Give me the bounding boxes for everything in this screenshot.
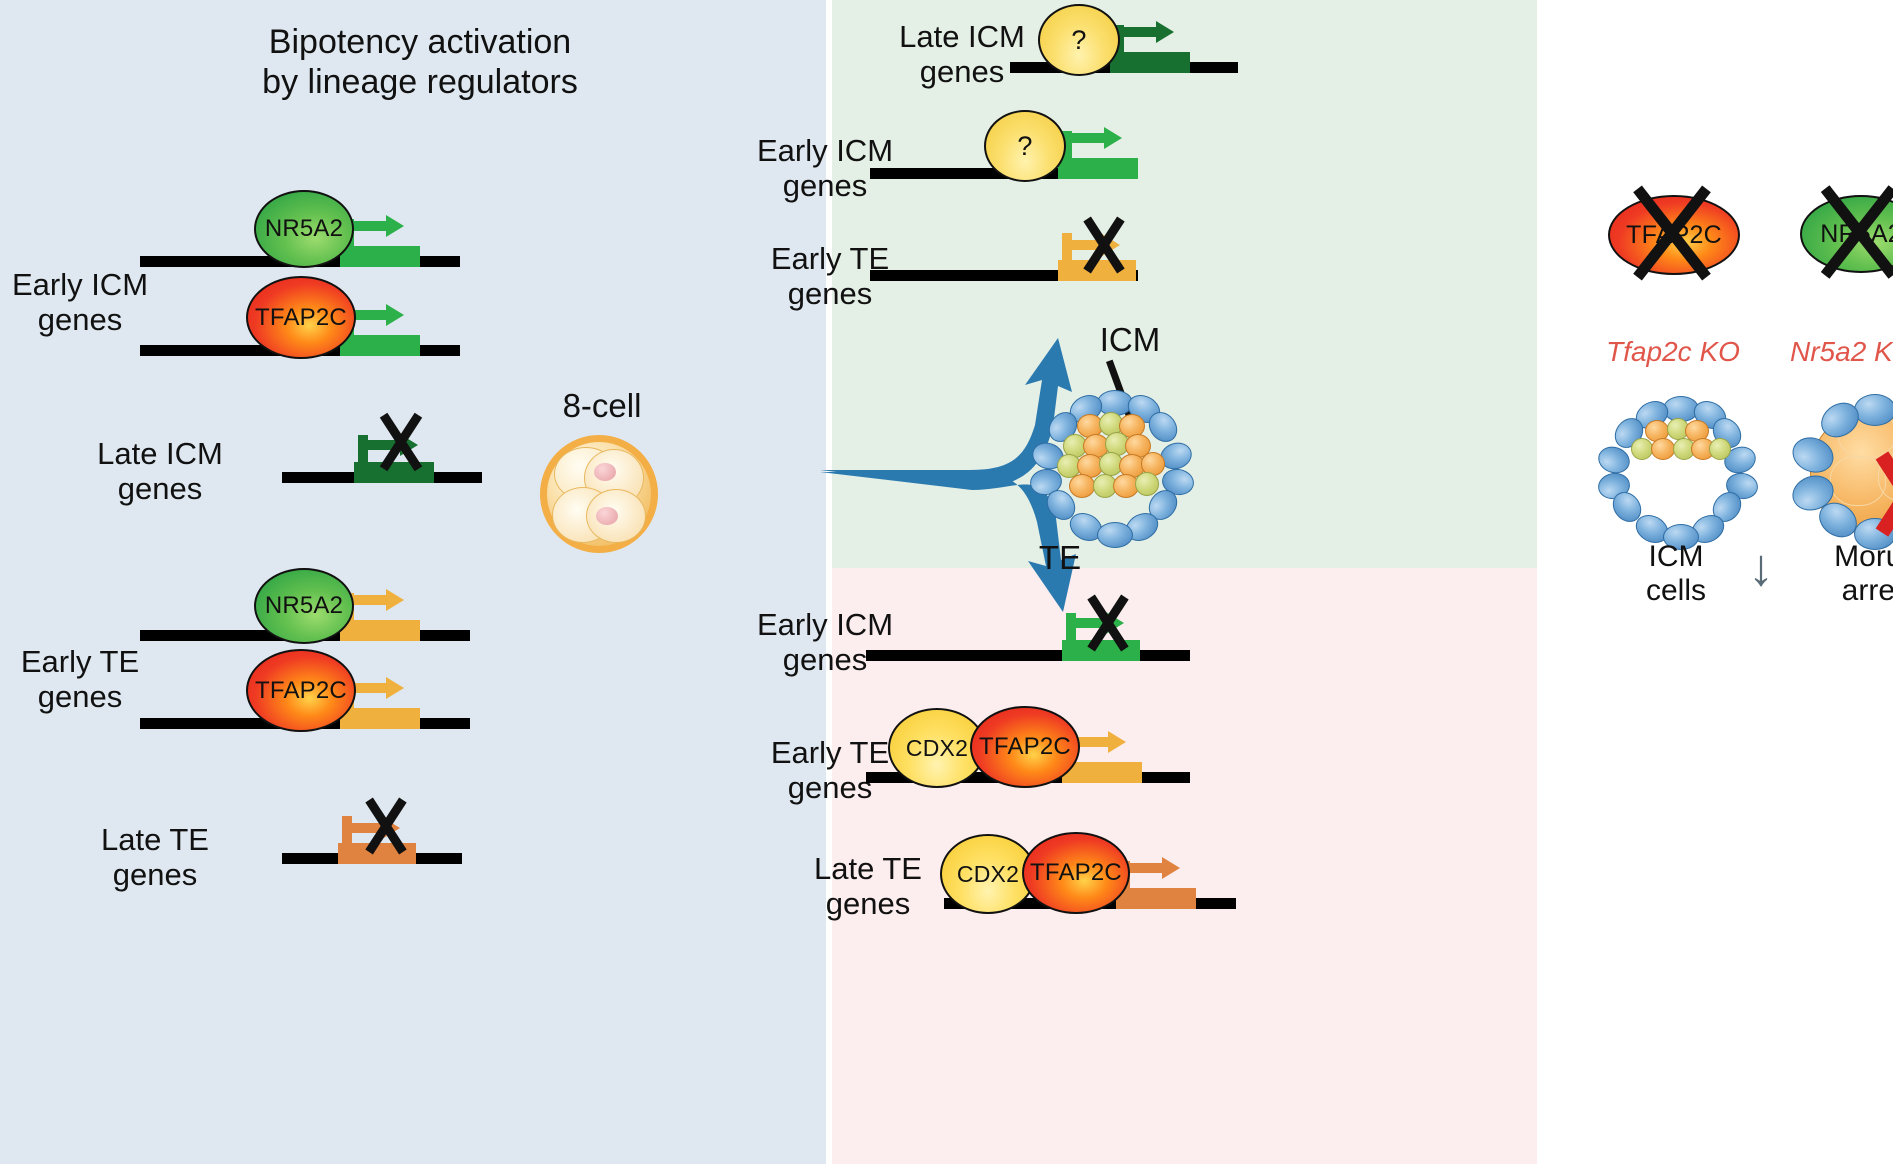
outcome-label-morula-arrest: Morula arrest	[1790, 540, 1893, 607]
blastocyst-reduced-icm	[1603, 398, 1749, 544]
tf-oval-tfap2c: TFAP2C	[970, 706, 1080, 788]
knockout-cross-icon	[1794, 177, 1893, 287]
blastocyst-embryo	[1035, 392, 1187, 544]
tf-label: TFAP2C	[1030, 859, 1122, 887]
ko-oval-nr5a2: NR5A2	[1800, 195, 1893, 269]
tf-label: TFAP2C	[255, 677, 347, 705]
tf-label: TFAP2C	[255, 304, 347, 332]
tf-oval-nr5a2: NR5A2	[254, 190, 354, 268]
ko-label-nr5a2: Nr5a2 KO	[1790, 336, 1893, 368]
lineage-label-te: TE	[980, 540, 1140, 577]
tf-label: NR5A2	[265, 592, 343, 620]
repression-x-icon	[1078, 214, 1130, 276]
figure-canvas: Bipotency activation by lineage regulato…	[0, 0, 1893, 1164]
label-early-te-left: Early TE genes	[0, 645, 200, 714]
arrest-red-x-icon	[1862, 448, 1893, 540]
page-title: Bipotency activation by lineage regulato…	[110, 22, 730, 102]
promoter-arrow-green	[1058, 133, 1138, 179]
stage-label-8cell: 8-cell	[492, 388, 712, 425]
tf-label: NR5A2	[265, 215, 343, 243]
tf-label: CDX2	[906, 735, 968, 762]
repression-x-icon	[374, 410, 428, 474]
tf-oval-tfap2c: TFAP2C	[1022, 832, 1130, 914]
tf-oval-nr5a2: NR5A2	[254, 568, 354, 644]
tf-label: ?	[1071, 25, 1086, 56]
ko-oval-tfap2c: TFAP2C	[1608, 195, 1736, 271]
label-late-te-left: Late TE genes	[30, 823, 280, 892]
repression-x-icon	[360, 795, 412, 857]
tf-label: CDX2	[957, 861, 1019, 888]
knockout-cross-icon	[1602, 177, 1742, 289]
decrease-arrow-icon: ↓	[1748, 542, 1774, 594]
tf-label: ?	[1017, 131, 1032, 162]
label-early-icm-pink: Early ICM genes	[700, 608, 950, 677]
morula-arrest-embryo	[1800, 398, 1893, 544]
tf-oval-unknown: ?	[984, 110, 1066, 182]
repression-x-icon	[1082, 592, 1134, 654]
label-early-icm-left: Early ICM genes	[0, 268, 200, 337]
label-late-icm-left: Late ICM genes	[30, 437, 290, 506]
tf-label: TFAP2C	[979, 733, 1071, 761]
tf-oval-tfap2c: TFAP2C	[246, 276, 356, 359]
promoter-arrow-dark-green	[1110, 27, 1190, 73]
tf-oval-tfap2c: TFAP2C	[246, 649, 356, 732]
outcome-label-icm-cells: ICM cells	[1596, 540, 1756, 607]
ko-label-tfap2c: Tfap2c KO	[1575, 336, 1771, 368]
tf-oval-unknown: ?	[1038, 4, 1120, 76]
embryo-8cell	[540, 435, 658, 553]
lineage-label-icm: ICM	[1040, 322, 1220, 359]
dna-line	[866, 650, 1190, 661]
